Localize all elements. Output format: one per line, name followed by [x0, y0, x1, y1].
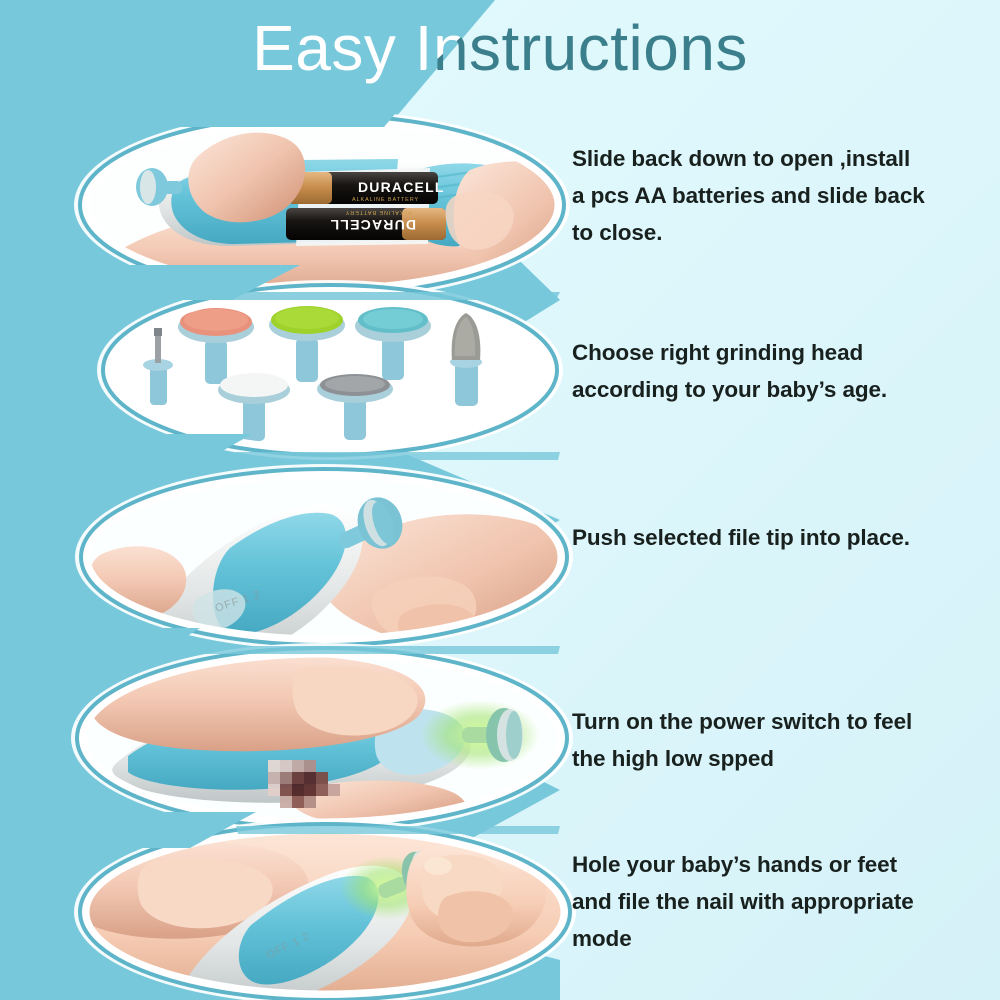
step-5-text: Hole your baby’s hands or feet and file … — [572, 846, 972, 957]
instruction-poster: DURACELL ALKALINE BATTERY DURACELL ALKAL… — [0, 0, 1000, 1000]
step-3-line-1: Push selected file tip into place. — [572, 519, 972, 556]
step-2-line-2: according to your baby’s age. — [572, 371, 972, 408]
svg-text:DURACELL: DURACELL — [329, 217, 416, 233]
photo-file-baby-nail: OFF 1 2 — [65, 819, 585, 1000]
step-1-line-2: a pcs AA batteries and slide back — [572, 177, 972, 214]
step-5-line-3: mode — [572, 920, 972, 957]
battery-bottom: DURACELL ALKALINE BATTERY — [286, 208, 446, 240]
photo-install-batteries: DURACELL ALKALINE BATTERY DURACELL ALKAL… — [74, 110, 590, 300]
step-4-line-2: the high low spped — [572, 740, 972, 777]
photo-power-switch — [71, 643, 583, 833]
grinding-head-attached — [486, 708, 523, 762]
step-1-line-1: Slide back down to open ,install — [572, 140, 972, 177]
step-5-line-1: Hole your baby’s hands or feet — [572, 846, 972, 883]
photo-push-file-tip: OFF 1 2 — [75, 464, 588, 664]
svg-text:ALKALINE BATTERY: ALKALINE BATTERY — [352, 197, 419, 203]
step-3-text: Push selected file tip into place. — [572, 519, 972, 556]
step-2-text: Choose right grinding head according to … — [572, 334, 972, 408]
step-1-line-3: to close. — [572, 214, 972, 251]
step-4-text: Turn on the power switch to feel the hig… — [572, 703, 972, 777]
step-4-line-1: Turn on the power switch to feel — [572, 703, 972, 740]
baby-nail — [424, 857, 452, 875]
step-5-line-2: and file the nail with appropriate — [572, 883, 972, 920]
svg-text:ALKALINE BATTERY: ALKALINE BATTERY — [345, 209, 412, 215]
step-2-line-1: Choose right grinding head — [572, 334, 972, 371]
step-1-text: Slide back down to open ,install a pcs A… — [572, 140, 972, 251]
svg-text:DURACELL: DURACELL — [358, 179, 445, 195]
battery-top: DURACELL ALKALINE BATTERY — [288, 172, 445, 204]
photo-grinding-heads — [97, 280, 565, 460]
